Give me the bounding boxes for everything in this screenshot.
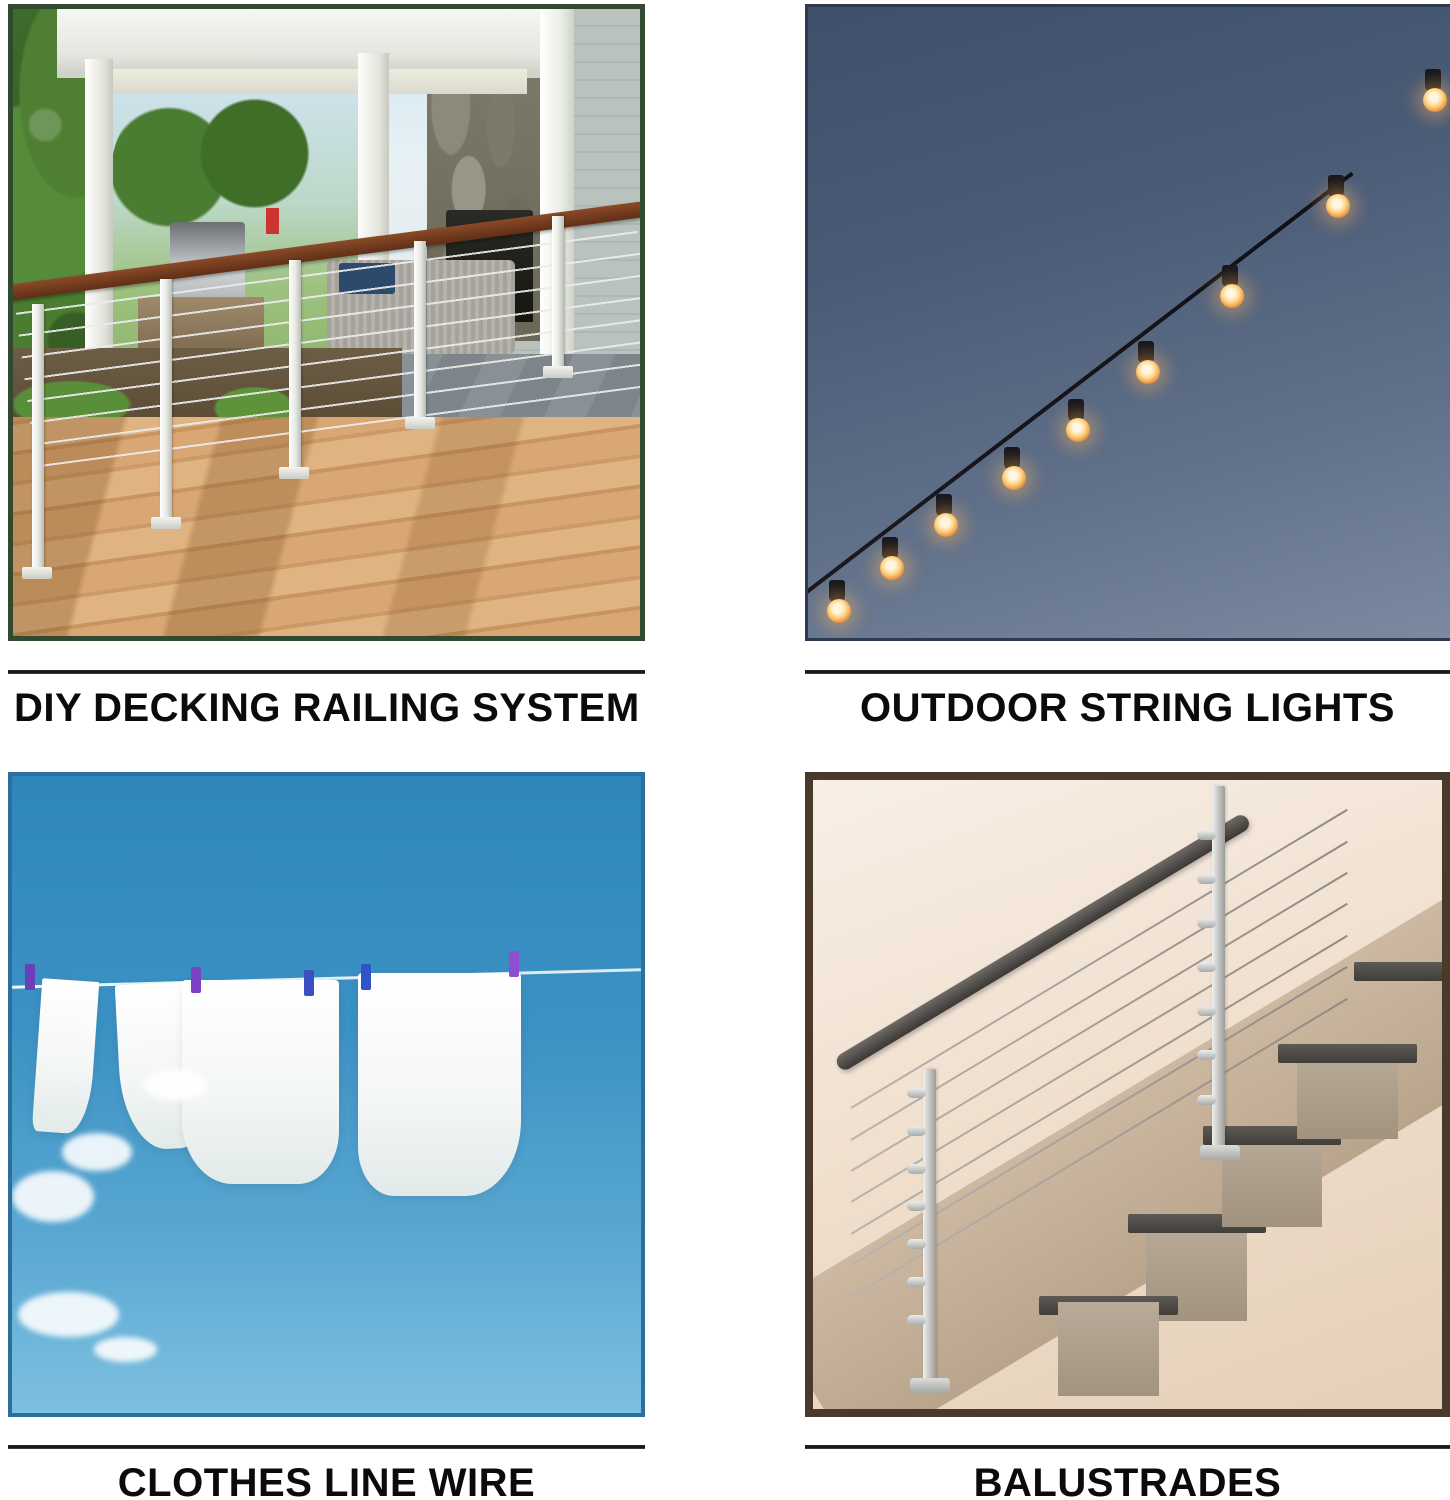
railing-post-base bbox=[405, 417, 435, 429]
cable-fitting bbox=[907, 1201, 926, 1211]
cable-fitting bbox=[907, 1126, 926, 1136]
light-bulb bbox=[1136, 360, 1160, 384]
post-base-plate bbox=[1200, 1145, 1240, 1160]
stair-tread bbox=[1354, 962, 1442, 981]
railing-post bbox=[552, 216, 564, 373]
application-grid: DIY DECKING RAILING SYSTEM OUTDO bbox=[0, 0, 1450, 1500]
cloud bbox=[18, 1292, 119, 1337]
caption-clothes-line-wire: CLOTHES LINE WIRE bbox=[8, 1461, 645, 1500]
light-bulb bbox=[1066, 418, 1090, 442]
cable-fitting bbox=[1197, 1050, 1216, 1060]
cloud bbox=[94, 1337, 157, 1362]
porch-beam-secondary bbox=[88, 69, 527, 94]
caption-outdoor-string-lights: OUTDOOR STRING LIGHTS bbox=[805, 686, 1450, 731]
cloud bbox=[144, 1069, 207, 1101]
light-bulb bbox=[1423, 88, 1447, 112]
railing-post bbox=[32, 304, 44, 574]
stair-riser bbox=[1297, 1050, 1398, 1138]
cable-fitting bbox=[907, 1239, 926, 1249]
clothespin bbox=[361, 964, 371, 990]
balustrade-scene bbox=[813, 780, 1442, 1409]
cable-fitting bbox=[1197, 962, 1216, 972]
cable-fitting bbox=[907, 1164, 926, 1174]
cable-fitting bbox=[1197, 1006, 1216, 1016]
railing-post bbox=[160, 279, 172, 524]
railing-post-base bbox=[22, 567, 52, 579]
cable-fitting bbox=[1197, 874, 1216, 884]
cable-fitting bbox=[907, 1277, 926, 1287]
photo-clothes-line-wire[interactable] bbox=[8, 772, 645, 1417]
railing-post bbox=[414, 241, 426, 423]
stair-riser bbox=[1058, 1302, 1159, 1396]
garment-sock bbox=[32, 978, 99, 1134]
photo-diy-decking-railing-system[interactable] bbox=[8, 4, 645, 641]
string-lights-scene bbox=[808, 7, 1450, 638]
clothesline-scene bbox=[12, 776, 641, 1413]
railing-post-base bbox=[279, 467, 309, 479]
divider-top-right bbox=[805, 670, 1450, 674]
light-bulb bbox=[934, 513, 958, 537]
photo-outdoor-string-lights[interactable] bbox=[805, 4, 1450, 641]
divider-bottom-right bbox=[805, 1445, 1450, 1449]
cable-fitting bbox=[1197, 918, 1216, 928]
cable-fitting bbox=[1197, 1095, 1216, 1105]
cable-fitting bbox=[907, 1088, 926, 1098]
railing-post bbox=[289, 260, 301, 473]
light-bulb bbox=[1002, 466, 1026, 490]
photo-balustrades[interactable] bbox=[805, 772, 1450, 1417]
light-bulb bbox=[827, 599, 851, 623]
cable-fitting bbox=[907, 1315, 926, 1325]
clothespin bbox=[25, 964, 35, 990]
caption-diy-decking-railing-system: DIY DECKING RAILING SYSTEM bbox=[14, 686, 640, 731]
cloud bbox=[62, 1133, 131, 1171]
light-bulb bbox=[1220, 284, 1244, 308]
post-base-plate bbox=[910, 1378, 950, 1393]
clothespin bbox=[304, 970, 314, 996]
garment-shirt-right bbox=[358, 973, 522, 1196]
clothespin bbox=[509, 951, 519, 977]
balustrade-post bbox=[923, 1069, 936, 1384]
clothespin bbox=[191, 967, 201, 993]
divider-bottom-left bbox=[8, 1445, 645, 1449]
deck-scene bbox=[13, 9, 640, 636]
cable-fitting bbox=[1197, 830, 1216, 840]
light-bulb bbox=[1326, 194, 1350, 218]
railing-post-base bbox=[151, 517, 181, 529]
cloud bbox=[12, 1171, 94, 1222]
railing-post-base bbox=[543, 366, 573, 378]
caption-balustrades: BALUSTRADES bbox=[805, 1461, 1450, 1500]
light-bulb bbox=[880, 556, 904, 580]
stair-tread bbox=[1278, 1044, 1416, 1063]
divider-top-left bbox=[8, 670, 645, 674]
